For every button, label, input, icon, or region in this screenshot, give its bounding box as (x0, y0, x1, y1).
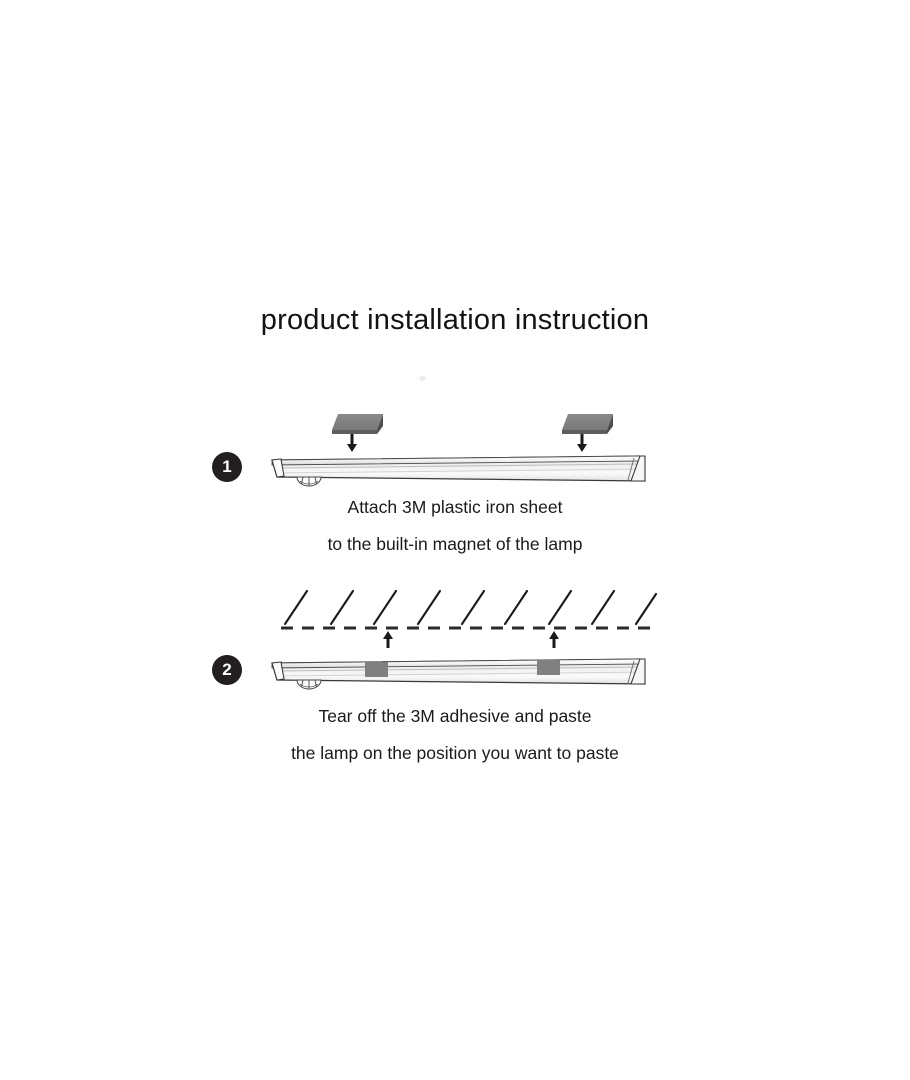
sensor-grille-step-1-icon (297, 477, 321, 486)
step-2-caption-line-1: Tear off the 3M adhesive and paste (0, 703, 910, 729)
step-1-caption-line-2: to the built-in magnet of the lamp (0, 531, 910, 557)
adhesive-pad-right (537, 660, 560, 675)
scan-artifact-speck (419, 376, 426, 381)
adhesive-pad-left (365, 662, 388, 677)
down-arrow-left-icon (347, 434, 357, 452)
page-title: product installation instruction (0, 300, 910, 340)
mounting-surface-hatching (285, 591, 656, 624)
down-arrow-right-icon (577, 434, 587, 452)
step-1-caption-line-1: Attach 3M plastic iron sheet (0, 494, 910, 520)
sensor-grille-step-2-icon (297, 680, 321, 689)
up-arrow-right-icon (549, 631, 559, 648)
step-badge-1: 1 (212, 452, 242, 482)
3m-sheet-right-icon (562, 414, 613, 434)
up-arrow-left-icon (383, 631, 393, 648)
lamp-bar-step-1 (272, 456, 645, 481)
lamp-bar-step-2 (272, 659, 645, 684)
instruction-sheet: product installation instruction (0, 0, 910, 1080)
step-2-caption-line-2: the lamp on the position you want to pas… (0, 740, 910, 766)
step-badge-2: 2 (212, 655, 242, 685)
3m-sheet-left-icon (332, 414, 383, 434)
